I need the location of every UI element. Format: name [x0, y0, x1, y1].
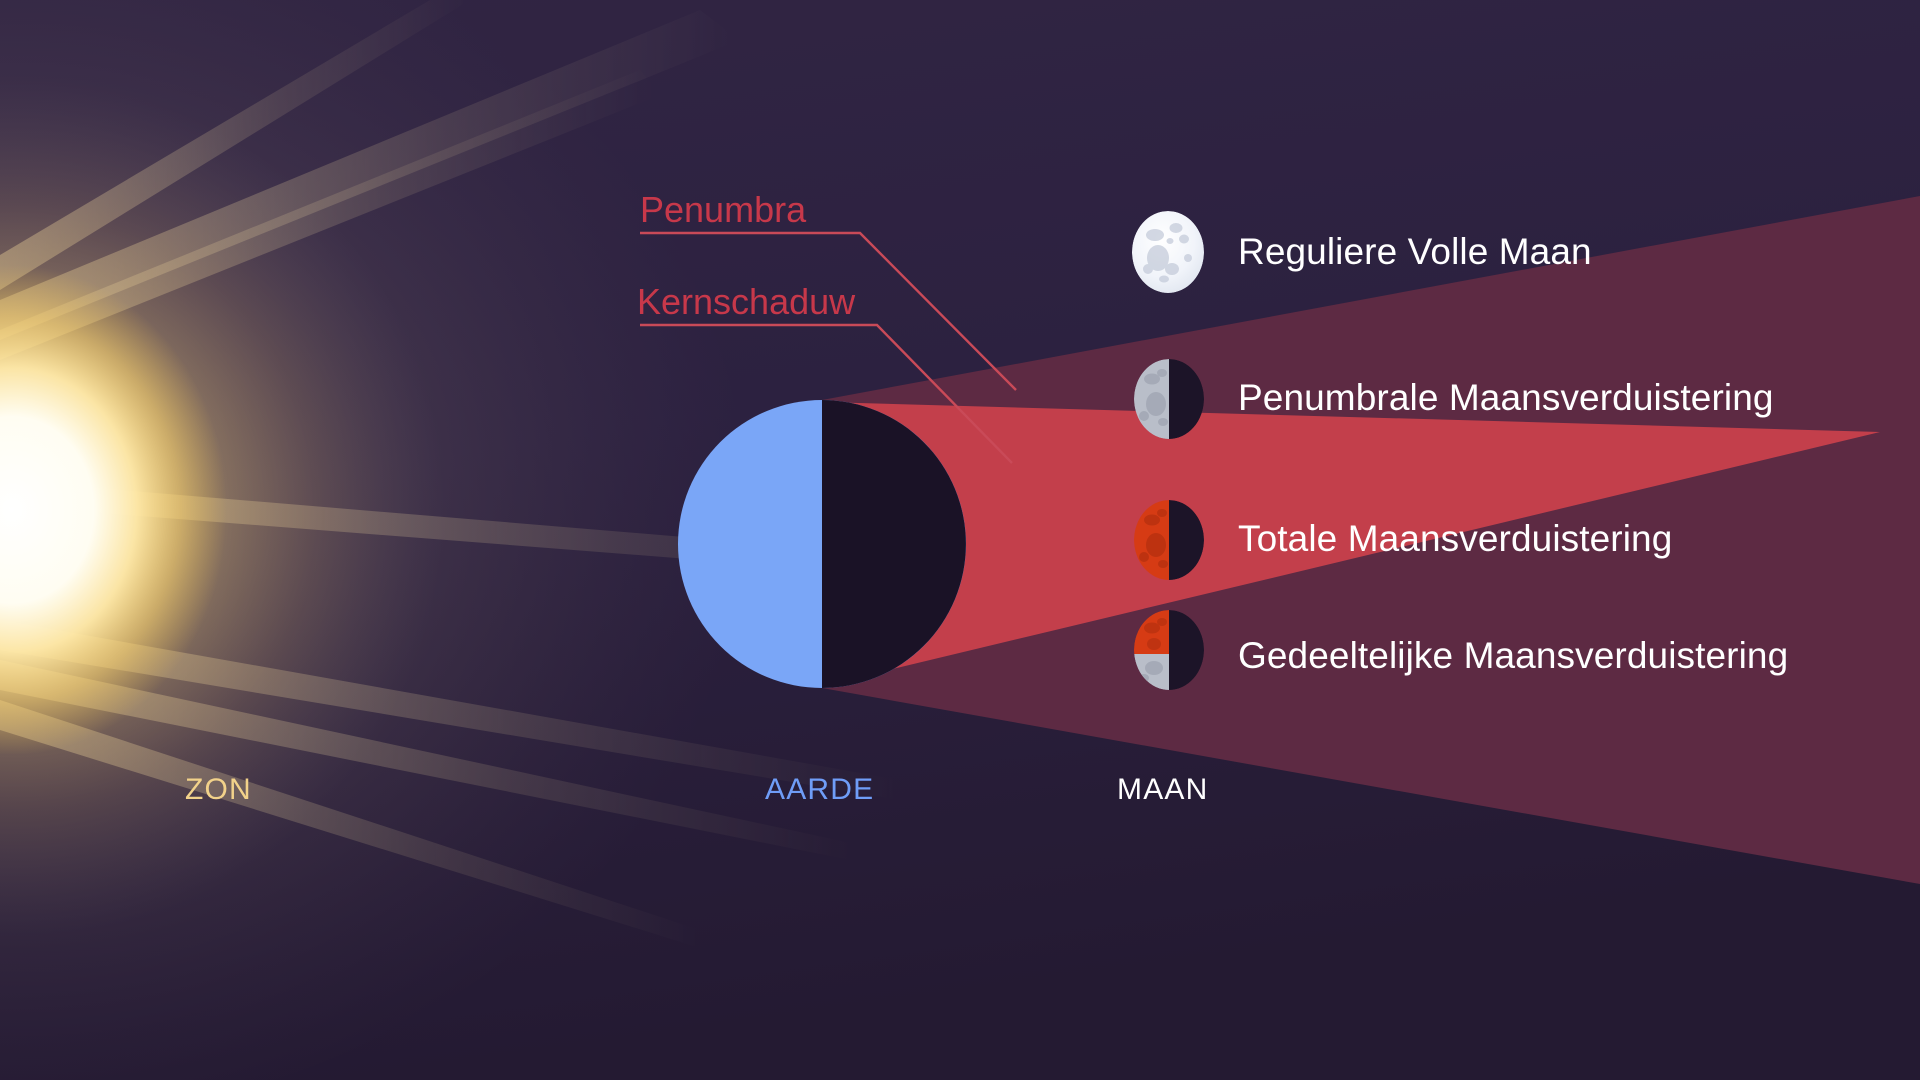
legend-label-regular-full-moon: Reguliere Volle Maan — [1238, 233, 1592, 270]
moon-penumbral-glyph — [1134, 359, 1204, 439]
moon-partial-icon — [1134, 610, 1204, 690]
moon-full-icon — [1132, 211, 1204, 293]
penumbra-label: Penumbra — [640, 192, 806, 228]
moon-total-icon — [1134, 500, 1204, 580]
sun-label: ZON — [185, 775, 252, 805]
earth — [678, 400, 966, 688]
moon-penumbral-icon — [1134, 359, 1204, 439]
moon-full-glyph — [1132, 211, 1204, 293]
kernschaduw-label: Kernschaduw — [637, 284, 855, 320]
legend-label-partial-lunar-eclipse: Gedeeltelijke Maansverduistering — [1238, 637, 1788, 674]
earth-label: AARDE — [765, 775, 874, 805]
legend-label-total-lunar-eclipse: Totale Maansverduistering — [1238, 520, 1672, 557]
moon-partial-glyph — [1134, 610, 1204, 690]
legend-label-penumbral-lunar-eclipse: Penumbrale Maansverduistering — [1238, 379, 1774, 416]
moon-label: MAAN — [1117, 775, 1208, 805]
moon-total-glyph — [1134, 500, 1204, 580]
eclipse-diagram-canvas: Penumbra Kernschaduw — [0, 0, 1920, 1080]
